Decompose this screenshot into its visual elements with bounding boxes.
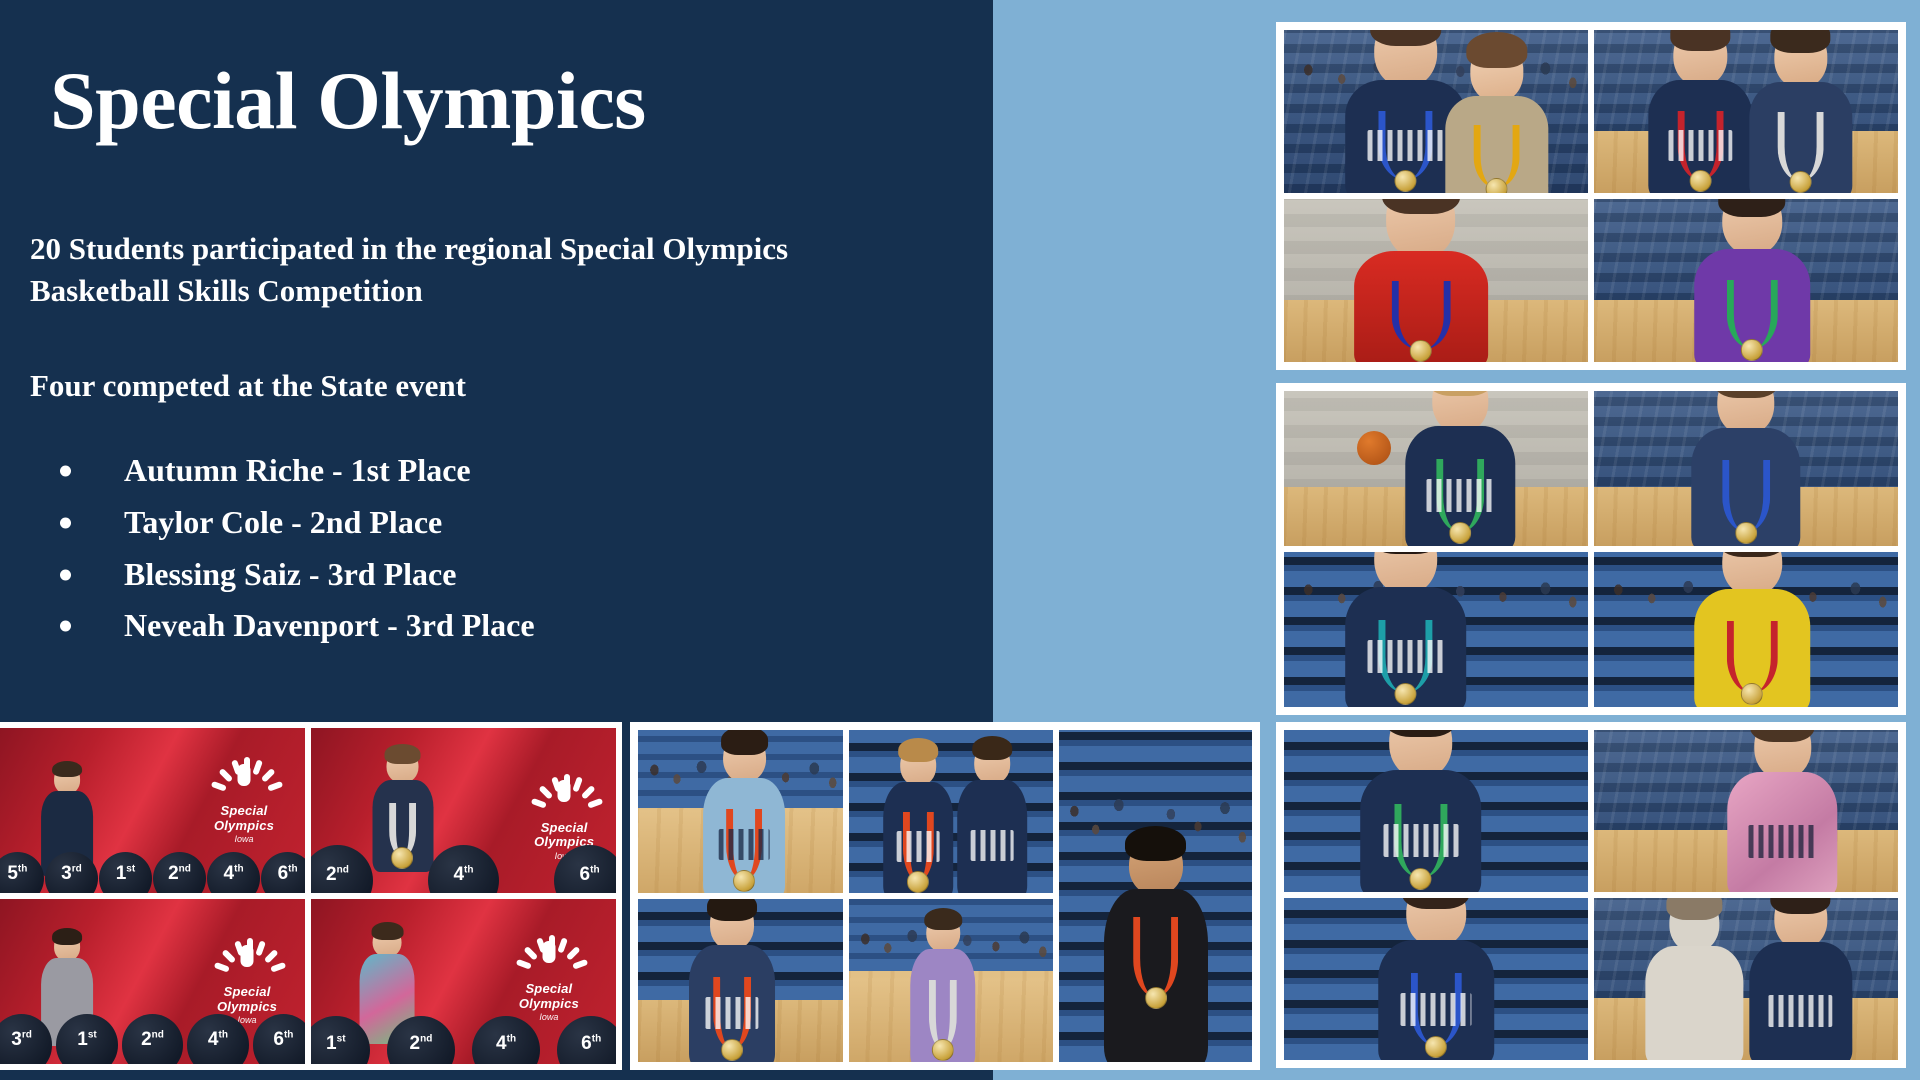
special-olympics-figure-icon <box>537 771 591 817</box>
photo <box>1284 730 1588 892</box>
celebration-collage <box>1276 722 1906 1068</box>
place-4th: 4th <box>496 1033 516 1055</box>
bullet-icon <box>60 517 71 528</box>
list-item: Taylor Cole - 2nd Place <box>46 497 535 549</box>
place-3rd: 3rd <box>11 1029 32 1051</box>
award-label: Neveah Davenport - 3rd Place <box>124 607 535 643</box>
place-1st: 1st <box>77 1029 96 1051</box>
logo-name-line-1: Special <box>204 804 283 819</box>
photo <box>1594 730 1898 892</box>
state-event-paragraph: Four competed at the State event <box>30 365 930 407</box>
award-label: Autumn Riche - 1st Place <box>124 452 471 488</box>
place-6th: 6th <box>273 1029 293 1051</box>
list-item: Autumn Riche - 1st Place <box>46 445 535 497</box>
place-marker: 6th <box>253 1014 305 1064</box>
awards-list: Autumn Riche - 1st Place Taylor Cole - 2… <box>46 445 535 652</box>
basketball-icon <box>1357 431 1391 465</box>
awards-collage <box>630 722 1260 1070</box>
special-olympics-figure-icon <box>220 935 274 981</box>
place-1st: 1st <box>326 1033 345 1055</box>
photo: Special Olympics Iowa 1st 2nd 4th 6th <box>311 899 616 1064</box>
place-2nd: 2nd <box>410 1033 433 1055</box>
photo <box>849 899 1054 1062</box>
place-4th: 4th <box>224 863 244 885</box>
place-marker: 3rd <box>0 1014 52 1064</box>
place-marker: 3rd <box>45 852 98 893</box>
place-2nd: 2nd <box>326 864 349 886</box>
place-marker: 2nd <box>311 845 373 893</box>
place-marker: 4th <box>428 845 499 893</box>
competition-collage <box>1276 383 1906 715</box>
place-marker: 1st <box>99 852 152 893</box>
podium-place-markers: 5th 3rd 1st 2nd 4th 6th <box>0 829 305 893</box>
photo <box>1594 199 1898 362</box>
bullet-icon <box>60 569 71 580</box>
list-item: Blessing Saiz - 3rd Place <box>46 549 535 601</box>
place-6th: 6th <box>580 864 600 886</box>
photo <box>1059 730 1252 1062</box>
place-marker: 4th <box>207 852 260 893</box>
photo <box>1594 552 1898 707</box>
bullet-icon <box>60 465 71 476</box>
place-marker: 6th <box>557 1016 616 1064</box>
place-marker: 6th <box>554 845 616 893</box>
page-title: Special Olympics <box>50 58 646 144</box>
slide-canvas: Special Olympics 20 Students participate… <box>0 0 1920 1080</box>
photo <box>849 730 1054 893</box>
podium-place-markers: 3rd 1st 2nd 4th 6th <box>0 1000 305 1064</box>
photo: Special Olympics Iowa 5th 3rd 1st 2nd 4t… <box>0 728 305 893</box>
place-4th: 4th <box>453 864 473 886</box>
place-3rd: 3rd <box>61 863 82 885</box>
photo <box>1594 391 1898 546</box>
photo: Special Olympics Iowa 3rd 1st 2nd 4th 6t… <box>0 899 305 1064</box>
photo <box>638 899 843 1062</box>
list-item: Neveah Davenport - 3rd Place <box>46 600 535 652</box>
place-marker: 4th <box>187 1014 248 1064</box>
podium-collage: Special Olympics Iowa 5th 3rd 1st 2nd 4t… <box>0 722 622 1070</box>
logo-name-line-1: Special <box>518 821 610 836</box>
place-5th: 5th <box>7 863 27 885</box>
place-marker: 2nd <box>387 1016 455 1064</box>
place-4th: 4th <box>208 1029 228 1051</box>
special-olympics-figure-icon <box>217 754 271 800</box>
photo <box>1284 199 1588 362</box>
place-marker: 5th <box>0 852 44 893</box>
logo-name-line-1: Special <box>500 982 598 997</box>
place-marker: 1st <box>311 1016 370 1064</box>
photo <box>1284 552 1588 707</box>
place-2nd: 2nd <box>168 863 191 885</box>
photo <box>638 730 843 893</box>
place-6th: 6th <box>278 863 298 885</box>
photo <box>1594 898 1898 1060</box>
place-2nd: 2nd <box>141 1029 164 1051</box>
photo <box>1284 391 1588 546</box>
place-1st: 1st <box>116 863 135 885</box>
medal-winners-collage <box>1276 22 1906 370</box>
place-6th: 6th <box>581 1033 601 1055</box>
logo-name-line-1: Special <box>201 985 293 1000</box>
place-marker: 1st <box>56 1014 117 1064</box>
place-marker: 2nd <box>122 1014 183 1064</box>
place-marker: 4th <box>472 1016 540 1064</box>
photo <box>1284 898 1588 1060</box>
bullet-icon <box>60 621 71 632</box>
photo: Special Olympics Iowa 2nd 4th 6th <box>311 728 616 893</box>
award-label: Taylor Cole - 2nd Place <box>124 504 442 540</box>
podium-place-markers: 2nd 4th 6th <box>311 840 616 893</box>
podium-place-markers: 1st 2nd 4th 6th <box>311 1008 616 1064</box>
place-marker: 2nd <box>153 852 206 893</box>
place-marker: 6th <box>261 852 305 893</box>
award-label: Blessing Saiz - 3rd Place <box>124 556 456 592</box>
special-olympics-figure-icon <box>522 932 576 978</box>
photo <box>1284 30 1588 193</box>
intro-paragraph: 20 Students participated in the regional… <box>30 228 920 312</box>
photo <box>1594 30 1898 193</box>
